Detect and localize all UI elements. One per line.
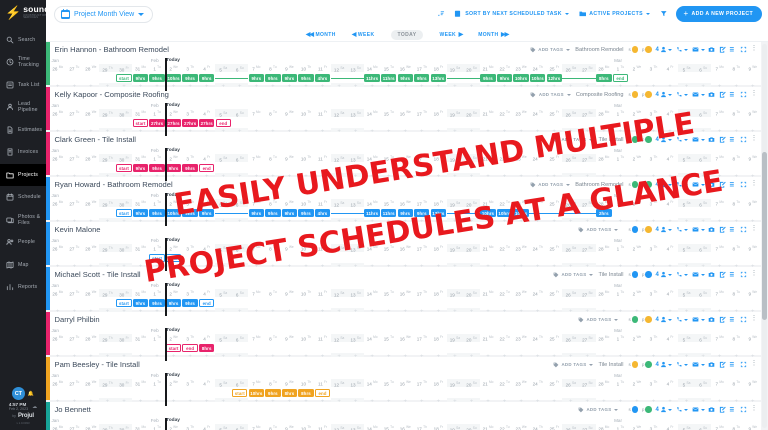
- brand-logo[interactable]: ⚡ sound CONSTRUCTION SERVICES: [0, 0, 46, 27]
- day-cell[interactable]: 28 Mo: [596, 65, 613, 72]
- more-options-button[interactable]: ⋮: [751, 227, 758, 232]
- task-chip[interactable]: start: [133, 119, 148, 127]
- day-cell[interactable]: 30 Fr: [116, 244, 133, 252]
- project-filter-button[interactable]: Active Projects: [578, 10, 650, 18]
- day-cell[interactable]: 1 Tu: [149, 110, 166, 117]
- day-cell[interactable]: 26 Sa: [562, 424, 579, 430]
- day-cell[interactable]: 12 Sa: [331, 334, 348, 342]
- more-options-button[interactable]: ⋮: [751, 362, 758, 367]
- task-chip[interactable]: 9hrs: [265, 74, 280, 82]
- day-cell[interactable]: 29 Th: [99, 154, 116, 162]
- task-chip[interactable]: 9hrs: [398, 74, 413, 82]
- task-chip[interactable]: 9hrs: [265, 389, 280, 397]
- day-cell[interactable]: 22 Tu: [496, 380, 513, 387]
- status-p[interactable]: p: [642, 136, 652, 143]
- day-cell[interactable]: 20 Su: [463, 244, 480, 252]
- task-chip[interactable]: 9hrs: [182, 209, 197, 217]
- task-chip[interactable]: start: [116, 299, 131, 307]
- day-cell[interactable]: 4 Fr: [662, 200, 679, 207]
- more-options-button[interactable]: ⋮: [751, 317, 758, 322]
- task-chip[interactable]: 9hrs: [249, 74, 264, 82]
- day-cell[interactable]: 6 Su: [695, 424, 712, 430]
- day-cell[interactable]: 1 Tu: [149, 200, 166, 207]
- day-cell[interactable]: 28 Mo: [596, 335, 613, 342]
- sidebar-item-schedule[interactable]: Schedule: [0, 186, 46, 209]
- day-cell[interactable]: 5 Sa: [678, 244, 695, 252]
- day-cell[interactable]: 4 Fr: [662, 155, 679, 162]
- status-s[interactable]: s: [628, 316, 638, 323]
- day-cell[interactable]: 1 Tu: [149, 425, 166, 430]
- day-cell[interactable]: 3 Th: [645, 155, 662, 162]
- day-cell[interactable]: 7 Mo: [711, 245, 728, 252]
- day-cell[interactable]: 25 Fr: [546, 155, 563, 162]
- day-cell[interactable]: 26 Mo: [50, 245, 67, 252]
- day-cell[interactable]: 2 We: [165, 65, 182, 72]
- add-tags-button[interactable]: Add Tags: [578, 227, 619, 233]
- status-p[interactable]: p: [642, 91, 652, 98]
- expand-button[interactable]: [740, 91, 747, 98]
- add-tags-button[interactable]: Add Tags: [553, 272, 594, 278]
- day-cell[interactable]: 2 We: [165, 245, 182, 252]
- day-cell[interactable]: 3 Th: [182, 245, 199, 252]
- crew-count-button[interactable]: 4: [656, 406, 673, 413]
- day-cell[interactable]: 20 Su: [463, 334, 480, 342]
- project-title[interactable]: Pam Beesley - Tile Install: [55, 360, 140, 369]
- day-cell[interactable]: 18 Fr: [430, 245, 447, 252]
- day-cell[interactable]: 9 We: [281, 65, 298, 72]
- call-button[interactable]: [676, 271, 689, 278]
- day-cell[interactable]: 27 Tu: [66, 155, 83, 162]
- day-cell[interactable]: 2 We: [629, 110, 646, 117]
- day-cell[interactable]: 24 Th: [529, 425, 546, 430]
- day-cell[interactable]: 27 Su: [579, 244, 596, 252]
- day-cell[interactable]: 15 Tu: [380, 380, 397, 387]
- day-cell[interactable]: 23 We: [513, 290, 530, 297]
- day-cell[interactable]: 26 Sa: [562, 154, 579, 162]
- day-cell[interactable]: 29 Th: [99, 379, 116, 387]
- day-cell[interactable]: 9 We: [744, 155, 761, 162]
- day-cell[interactable]: 7 Mo: [711, 110, 728, 117]
- call-button[interactable]: [676, 361, 689, 368]
- call-button[interactable]: [676, 181, 689, 188]
- day-cell[interactable]: 13 Su: [347, 334, 364, 342]
- day-cell[interactable]: 26 Mo: [50, 155, 67, 162]
- day-cell[interactable]: 10 Th: [298, 380, 315, 387]
- edit-button[interactable]: [719, 316, 726, 323]
- day-cell[interactable]: 30 Fr: [116, 379, 133, 387]
- day-cell[interactable]: 7 Mo: [711, 425, 728, 430]
- day-cell[interactable]: 2 We: [165, 335, 182, 342]
- day-cell[interactable]: 8 Tu: [265, 245, 282, 252]
- status-s[interactable]: s: [628, 271, 638, 278]
- project-row[interactable]: Jo BennettAdd Tagssp4⋮JanFebMarToday26 M…: [46, 402, 761, 430]
- day-cell[interactable]: 3 Th: [182, 380, 199, 387]
- day-cell[interactable]: 16 We: [397, 335, 414, 342]
- day-cell[interactable]: 16 We: [397, 380, 414, 387]
- day-cell[interactable]: 1 Tu: [612, 380, 629, 387]
- day-cell[interactable]: 9 We: [281, 380, 298, 387]
- day-cell[interactable]: 28 We: [83, 155, 100, 162]
- day-cell[interactable]: 2 We: [165, 200, 182, 207]
- more-options-button[interactable]: ⋮: [751, 47, 758, 52]
- day-cell[interactable]: 12 Sa: [331, 379, 348, 387]
- day-cell[interactable]: 1 Tu: [612, 335, 629, 342]
- day-cell[interactable]: 2 We: [629, 65, 646, 72]
- task-chip[interactable]: 9hrs: [414, 74, 429, 82]
- day-cell[interactable]: 14 Mo: [364, 200, 381, 207]
- photos-button[interactable]: [708, 406, 715, 413]
- add-tags-button[interactable]: Add Tags: [553, 362, 594, 368]
- day-cell[interactable]: 20 Su: [463, 199, 480, 207]
- day-cell[interactable]: 4 Fr: [662, 290, 679, 297]
- day-cell[interactable]: 14 Mo: [364, 65, 381, 72]
- tasks-button[interactable]: [729, 181, 736, 188]
- day-cell[interactable]: 6 Su: [232, 199, 249, 207]
- day-cell[interactable]: 9 We: [281, 290, 298, 297]
- day-cell[interactable]: 31 Mo: [132, 200, 149, 207]
- day-cell[interactable]: 9 We: [744, 110, 761, 117]
- day-cell[interactable]: 11 Fr: [314, 110, 331, 117]
- day-cell[interactable]: 12 Sa: [331, 109, 348, 117]
- mail-button[interactable]: [692, 91, 705, 98]
- day-cell[interactable]: 8 Tu: [265, 200, 282, 207]
- task-chip[interactable]: 13hrs: [431, 74, 446, 82]
- project-row[interactable]: Michael Scott - Tile InstallAdd TagsTile…: [46, 267, 761, 310]
- edit-button[interactable]: [719, 181, 726, 188]
- day-cell[interactable]: 3 Th: [645, 290, 662, 297]
- task-chip[interactable]: 11hrs: [364, 74, 379, 82]
- day-cell[interactable]: 5 Sa: [678, 379, 695, 387]
- mail-button[interactable]: [692, 271, 705, 278]
- status-p[interactable]: p: [642, 226, 652, 233]
- day-cell[interactable]: 5 Sa: [215, 199, 232, 207]
- day-cell[interactable]: 17 Th: [414, 425, 431, 430]
- day-cell[interactable]: 20 Su: [463, 424, 480, 430]
- project-row[interactable]: Ryan Howard - Bathroom RemodelAdd TagsBa…: [46, 177, 761, 220]
- day-cell[interactable]: 25 Fr: [546, 425, 563, 430]
- day-cell[interactable]: 8 Tu: [265, 335, 282, 342]
- day-cell[interactable]: 18 Fr: [430, 335, 447, 342]
- edit-button[interactable]: [719, 361, 726, 368]
- status-p[interactable]: p: [642, 46, 652, 53]
- project-row[interactable]: Kelly Kapoor - Composite RoofingAdd Tags…: [46, 87, 761, 130]
- day-cell[interactable]: 26 Sa: [562, 64, 579, 72]
- day-cell[interactable]: 15 Tu: [380, 425, 397, 430]
- day-cell[interactable]: 26 Mo: [50, 380, 67, 387]
- day-cell[interactable]: 17 Th: [414, 290, 431, 297]
- day-cell[interactable]: 30 Fr: [116, 289, 133, 297]
- day-cell[interactable]: 3 Th: [182, 155, 199, 162]
- day-cell[interactable]: 24 Th: [529, 155, 546, 162]
- task-chip[interactable]: 9hrs: [398, 209, 413, 217]
- task-chip[interactable]: end: [199, 299, 214, 307]
- day-cell[interactable]: 15 Tu: [380, 110, 397, 117]
- day-cell[interactable]: 21 Mo: [480, 65, 497, 72]
- expand-button[interactable]: [740, 406, 747, 413]
- task-chip[interactable]: 9hrs: [199, 209, 214, 217]
- day-cell[interactable]: 19 Sa: [447, 154, 464, 162]
- day-cell[interactable]: 16 We: [397, 245, 414, 252]
- day-cell[interactable]: 8 Tu: [265, 65, 282, 72]
- call-button[interactable]: [676, 46, 689, 53]
- day-cell[interactable]: 1 Tu: [612, 245, 629, 252]
- day-cell[interactable]: 29 Th: [99, 64, 116, 72]
- add-tags-button[interactable]: Add Tags: [530, 47, 571, 53]
- day-cell[interactable]: 22 Tu: [496, 110, 513, 117]
- project-row[interactable]: Clark Green - Tile InstallAdd TagsTile I…: [46, 132, 761, 175]
- sidebar-item-map[interactable]: Map: [0, 254, 46, 277]
- task-chip[interactable]: 9hrs: [182, 299, 197, 307]
- task-chip[interactable]: 9hrs: [298, 209, 313, 217]
- day-cell[interactable]: 22 Tu: [496, 200, 513, 207]
- status-p[interactable]: p: [642, 361, 652, 368]
- status-s[interactable]: s: [628, 46, 638, 53]
- task-chip[interactable]: 9hrs: [149, 74, 164, 82]
- day-cell[interactable]: 26 Mo: [50, 425, 67, 430]
- project-title[interactable]: Kelly Kapoor - Composite Roofing: [55, 90, 169, 99]
- day-cell[interactable]: 28 Mo: [596, 425, 613, 430]
- day-cell[interactable]: 11 Fr: [314, 155, 331, 162]
- task-chip[interactable]: 12hrs: [547, 74, 562, 82]
- day-cell[interactable]: 23 We: [513, 425, 530, 430]
- day-cell[interactable]: 8 Tu: [728, 245, 745, 252]
- day-cell[interactable]: 13 Su: [347, 244, 364, 252]
- day-cell[interactable]: 9 We: [744, 425, 761, 430]
- day-cell[interactable]: 25 Fr: [546, 65, 563, 72]
- day-cell[interactable]: 4 Fr: [662, 65, 679, 72]
- scrollbar-thumb[interactable]: [762, 152, 767, 321]
- day-cell[interactable]: 10 Th: [298, 155, 315, 162]
- day-cell[interactable]: 29 Th: [99, 424, 116, 430]
- crew-count-button[interactable]: 4: [656, 136, 673, 143]
- day-cell[interactable]: 31 Mo: [132, 290, 149, 297]
- project-title[interactable]: Ryan Howard - Bathroom Remodel: [55, 180, 173, 189]
- bell-icon[interactable]: 🔔: [28, 391, 34, 397]
- day-cell[interactable]: 9 We: [281, 245, 298, 252]
- task-chip[interactable]: start: [166, 344, 181, 352]
- day-cell[interactable]: 20 Su: [463, 289, 480, 297]
- day-cell[interactable]: 8 Tu: [728, 65, 745, 72]
- sidebar-item-task-list[interactable]: Task List: [0, 74, 46, 97]
- day-cell[interactable]: 3 Th: [645, 245, 662, 252]
- day-cell[interactable]: 22 Tu: [496, 290, 513, 297]
- edit-button[interactable]: [719, 46, 726, 53]
- day-cell[interactable]: 3 Th: [645, 380, 662, 387]
- task-chip[interactable]: 13hrs: [431, 209, 446, 217]
- day-cell[interactable]: 17 Th: [414, 335, 431, 342]
- day-cell[interactable]: 6 Su: [695, 109, 712, 117]
- day-cell[interactable]: 8 Tu: [728, 200, 745, 207]
- day-cell[interactable]: 21 Mo: [480, 425, 497, 430]
- day-cell[interactable]: 31 Mo: [132, 110, 149, 117]
- status-p[interactable]: p: [642, 271, 652, 278]
- day-cell[interactable]: 3 Th: [645, 65, 662, 72]
- day-cell[interactable]: 14 Mo: [364, 110, 381, 117]
- day-cell[interactable]: 2 We: [165, 290, 182, 297]
- task-chip[interactable]: 9hrs: [298, 74, 313, 82]
- project-title[interactable]: Erin Hannon - Bathroom Remodel: [55, 45, 169, 54]
- task-chip[interactable]: 9hrs: [149, 299, 164, 307]
- day-cell[interactable]: 8 Tu: [265, 425, 282, 430]
- day-cell[interactable]: 28 Mo: [596, 155, 613, 162]
- day-cell[interactable]: 20 Su: [463, 64, 480, 72]
- avatar[interactable]: CT: [12, 387, 25, 400]
- day-cell[interactable]: 29 Th: [99, 199, 116, 207]
- day-cell[interactable]: 10 Th: [298, 290, 315, 297]
- day-cell[interactable]: 5 Sa: [678, 334, 695, 342]
- day-cell[interactable]: 10 Th: [298, 65, 315, 72]
- day-cell[interactable]: 3 Th: [645, 335, 662, 342]
- task-chip[interactable]: start: [232, 389, 247, 397]
- day-cell[interactable]: 1 Tu: [612, 425, 629, 430]
- day-cell[interactable]: 25 Fr: [546, 245, 563, 252]
- more-options-button[interactable]: ⋮: [751, 407, 758, 412]
- day-cell[interactable]: 7 Mo: [248, 200, 265, 207]
- day-cell[interactable]: 31 Mo: [132, 380, 149, 387]
- day-cell[interactable]: 16 We: [397, 425, 414, 430]
- day-cell[interactable]: 27 Su: [579, 334, 596, 342]
- day-cell[interactable]: 30 Fr: [116, 424, 133, 430]
- day-cell[interactable]: 14 Mo: [364, 290, 381, 297]
- day-cell[interactable]: 1 Tu: [149, 290, 166, 297]
- day-cell[interactable]: 7 Mo: [248, 425, 265, 430]
- day-cell[interactable]: 23 We: [513, 155, 530, 162]
- day-cell[interactable]: 15 Tu: [380, 245, 397, 252]
- day-cell[interactable]: 8 Tu: [728, 110, 745, 117]
- day-cell[interactable]: 27 Tu: [66, 335, 83, 342]
- day-cell[interactable]: 5 Sa: [678, 109, 695, 117]
- day-cell[interactable]: 8 Tu: [265, 290, 282, 297]
- day-cell[interactable]: 17 Th: [414, 65, 431, 72]
- day-cell[interactable]: 30 Fr: [116, 334, 133, 342]
- photos-button[interactable]: [708, 181, 715, 188]
- day-cell[interactable]: 21 Mo: [480, 200, 497, 207]
- day-cell[interactable]: 6 Su: [695, 379, 712, 387]
- task-chip[interactable]: 4hrs: [315, 209, 330, 217]
- day-cell[interactable]: 6 Su: [232, 334, 249, 342]
- day-cell[interactable]: 4 Fr: [198, 245, 215, 252]
- day-cell[interactable]: 25 Fr: [546, 290, 563, 297]
- day-cell[interactable]: 4 Fr: [198, 335, 215, 342]
- day-cell[interactable]: 27 Tu: [66, 65, 83, 72]
- day-cell[interactable]: 15 Tu: [380, 155, 397, 162]
- day-cell[interactable]: 15 Tu: [380, 200, 397, 207]
- status-p[interactable]: p: [642, 181, 652, 188]
- add-tags-button[interactable]: Add Tags: [530, 182, 571, 188]
- task-chip[interactable]: 9hrs: [149, 164, 164, 172]
- day-cell[interactable]: 9 We: [281, 155, 298, 162]
- day-cell[interactable]: 26 Sa: [562, 199, 579, 207]
- day-cell[interactable]: 8 Tu: [728, 290, 745, 297]
- day-cell[interactable]: 26 Sa: [562, 109, 579, 117]
- next-month-button[interactable]: Month▶▶: [478, 31, 508, 38]
- day-cell[interactable]: 7 Mo: [248, 110, 265, 117]
- task-chip[interactable]: 10hrs: [480, 209, 495, 217]
- day-cell[interactable]: 4 Fr: [198, 425, 215, 430]
- more-options-button[interactable]: ⋮: [751, 137, 758, 142]
- status-s[interactable]: s: [628, 226, 638, 233]
- expand-button[interactable]: [740, 181, 747, 188]
- day-cell[interactable]: 11 Fr: [314, 65, 331, 72]
- mail-button[interactable]: [692, 46, 705, 53]
- day-cell[interactable]: 2 We: [629, 425, 646, 430]
- filter-icon[interactable]: [659, 10, 667, 18]
- day-cell[interactable]: 31 Mo: [132, 335, 149, 342]
- day-cell[interactable]: 1 Tu: [612, 200, 629, 207]
- day-cell[interactable]: 26 Sa: [562, 244, 579, 252]
- add-tags-button[interactable]: Add Tags: [553, 137, 594, 143]
- day-cell[interactable]: 21 Mo: [480, 290, 497, 297]
- day-cell[interactable]: 4 Fr: [662, 245, 679, 252]
- day-cell[interactable]: 19 Sa: [447, 379, 464, 387]
- task-chip[interactable]: 9hrs: [480, 74, 495, 82]
- task-chip[interactable]: 9hrs: [166, 299, 181, 307]
- day-cell[interactable]: 10 Th: [298, 335, 315, 342]
- day-cell[interactable]: 9 We: [281, 110, 298, 117]
- project-row[interactable]: Pam Beesley - Tile InstallAdd TagsTile I…: [46, 357, 761, 400]
- day-cell[interactable]: 7 Mo: [711, 65, 728, 72]
- day-cell[interactable]: 11 Fr: [314, 200, 331, 207]
- day-cell[interactable]: 19 Sa: [447, 64, 464, 72]
- day-cell[interactable]: 5 Sa: [678, 199, 695, 207]
- day-cell[interactable]: 29 Th: [99, 289, 116, 297]
- day-cell[interactable]: 4 Fr: [198, 380, 215, 387]
- day-cell[interactable]: 9 We: [744, 380, 761, 387]
- day-cell[interactable]: 8 Tu: [265, 155, 282, 162]
- day-cell[interactable]: 5 Sa: [215, 109, 232, 117]
- task-chip[interactable]: 9hrs: [133, 299, 148, 307]
- day-cell[interactable]: 5 Sa: [678, 424, 695, 430]
- day-cell[interactable]: 12 Sa: [331, 289, 348, 297]
- day-cell[interactable]: 19 Sa: [447, 424, 464, 430]
- day-cell[interactable]: 22 Tu: [496, 245, 513, 252]
- project-row[interactable]: Kevin MaloneAdd Tagssp4⋮JanFebMarToday26…: [46, 222, 761, 265]
- sidebar-item-projects[interactable]: Projects: [0, 164, 46, 187]
- task-chip[interactable]: end: [182, 344, 197, 352]
- day-cell[interactable]: 2 We: [165, 380, 182, 387]
- day-cell[interactable]: 27 Tu: [66, 200, 83, 207]
- day-cell[interactable]: 1 Tu: [149, 380, 166, 387]
- mail-button[interactable]: [692, 136, 705, 143]
- day-cell[interactable]: 13 Su: [347, 289, 364, 297]
- task-chip[interactable]: 10hrs: [513, 74, 528, 82]
- project-title[interactable]: Darryl Philbin: [55, 315, 100, 324]
- day-cell[interactable]: 3 Th: [182, 335, 199, 342]
- day-cell[interactable]: 23 We: [513, 380, 530, 387]
- mail-button[interactable]: [692, 316, 705, 323]
- task-chip[interactable]: 8hrs: [199, 344, 214, 352]
- day-cell[interactable]: 31 Mo: [132, 245, 149, 252]
- day-cell[interactable]: 28 Mo: [596, 200, 613, 207]
- more-options-button[interactable]: ⋮: [751, 182, 758, 187]
- project-title[interactable]: Michael Scott - Tile Install: [55, 270, 141, 279]
- day-cell[interactable]: 19 Sa: [447, 244, 464, 252]
- day-cell[interactable]: 26 Mo: [50, 290, 67, 297]
- day-cell[interactable]: 9 We: [744, 200, 761, 207]
- task-chip[interactable]: 9hrs: [133, 164, 148, 172]
- day-cell[interactable]: 20 Su: [463, 379, 480, 387]
- day-cell[interactable]: 1 Tu: [149, 155, 166, 162]
- day-cell[interactable]: 24 Th: [529, 110, 546, 117]
- task-chip[interactable]: end: [613, 74, 628, 82]
- edit-button[interactable]: [719, 226, 726, 233]
- task-chip[interactable]: 9hrs: [249, 209, 264, 217]
- task-chip[interactable]: start: [116, 164, 131, 172]
- more-options-button[interactable]: ⋮: [751, 92, 758, 97]
- day-cell[interactable]: 6 Su: [232, 64, 249, 72]
- day-cell[interactable]: 18 Fr: [430, 110, 447, 117]
- task-chip[interactable]: 9hrs: [133, 209, 148, 217]
